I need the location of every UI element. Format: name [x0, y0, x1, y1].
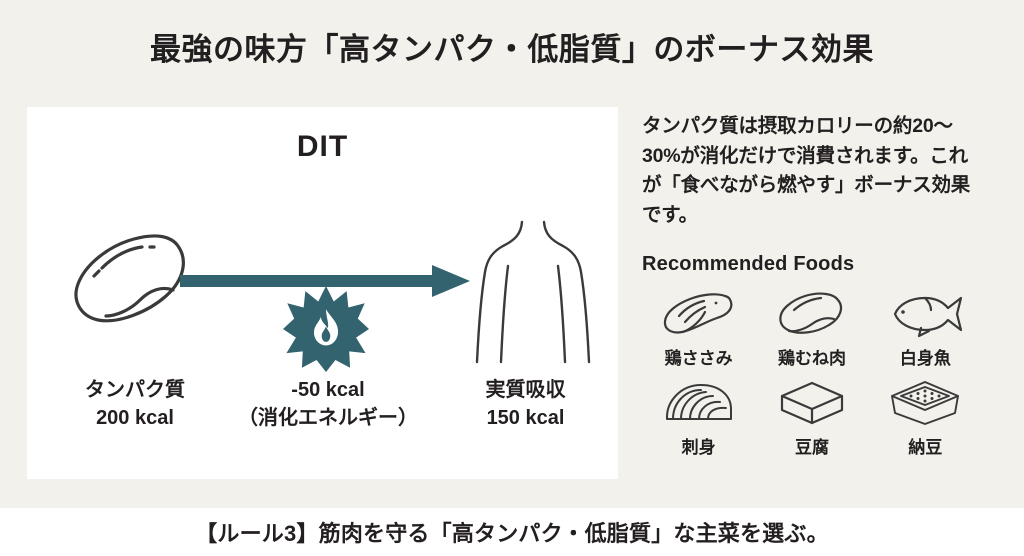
page-title: 最強の味方「高タンパク・低脂質」のボーナス効果 — [0, 24, 1024, 69]
caption-source-line2: 200 kcal — [40, 404, 230, 432]
sashimi-icon — [657, 377, 741, 429]
diagram-stage: タンパク質 200 kcal -50 kcal （消化エネルギー） 実質吸収 1… — [28, 108, 617, 478]
caption-absorbed-line1: 実質吸収 — [486, 379, 566, 401]
natto-pack-icon — [883, 377, 967, 429]
right-column: タンパク質は摂取カロリーの約20〜30%が消化だけで消費されます。これが「食べな… — [642, 112, 1002, 458]
food-label: 刺身 — [682, 433, 716, 458]
food-label: 納豆 — [908, 433, 942, 458]
food-item-chicken-tender: 鶏ささみ — [642, 288, 755, 369]
lead-paragraph: タンパク質は摂取カロリーの約20〜30%が消化だけで消費されます。これが「食べな… — [642, 112, 972, 231]
food-item-sashimi: 刺身 — [642, 377, 755, 458]
recommended-foods-grid: 鶏ささみ 鶏むね肉 白身魚 — [642, 288, 982, 458]
footer-bar: 【ルール3】筋肉を守る「高タンパク・低脂質」な主菜を選ぶ。 — [0, 508, 1024, 556]
food-label: 鶏むね肉 — [778, 344, 846, 369]
recommended-foods-heading: Recommended Foods — [642, 253, 1002, 276]
food-item-tofu: 豆腐 — [755, 377, 868, 458]
food-item-chicken-breast: 鶏むね肉 — [755, 288, 868, 369]
flame-burst-icon — [283, 286, 369, 372]
caption-absorbed: 実質吸収 150 kcal — [438, 376, 613, 432]
tofu-cube-icon — [770, 377, 854, 429]
caption-burn-line1: -50 kcal — [291, 379, 364, 401]
chicken-breast-icon — [770, 288, 854, 340]
caption-absorbed-line2: 150 kcal — [438, 404, 613, 432]
footer-rule-text: 【ルール3】筋肉を守る「高タンパク・低脂質」な主菜を選ぶ。 — [195, 516, 829, 548]
food-item-white-fish: 白身魚 — [869, 288, 982, 369]
caption-burn: -50 kcal （消化エネルギー） — [218, 376, 438, 432]
caption-source: タンパク質 200 kcal — [40, 376, 230, 432]
food-label: 白身魚 — [900, 344, 951, 369]
dit-diagram-panel: DIT — [28, 108, 617, 478]
caption-source-line1: タンパク質 — [85, 379, 185, 401]
human-torso-icon — [468, 220, 598, 365]
fish-icon — [883, 288, 967, 340]
food-item-natto: 納豆 — [869, 377, 982, 458]
food-label: 鶏ささみ — [665, 344, 733, 369]
food-label: 豆腐 — [795, 433, 829, 458]
caption-burn-line2: （消化エネルギー） — [218, 404, 438, 432]
chicken-tender-icon — [657, 288, 741, 340]
